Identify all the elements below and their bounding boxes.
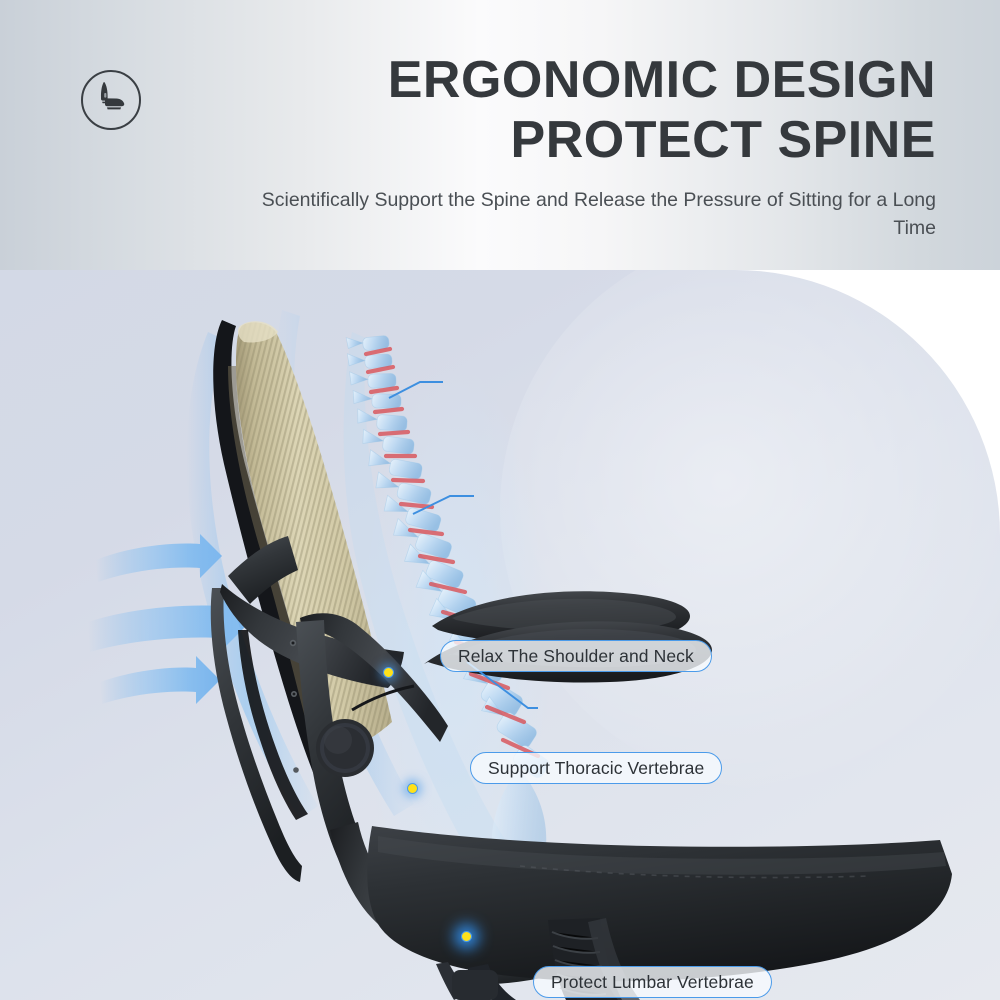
header-band: ERGONOMIC DESIGN PROTECT SPINE Scientifi… bbox=[0, 0, 1000, 270]
chair-illustration bbox=[0, 270, 1000, 1000]
title-line-1: ERGONOMIC DESIGN bbox=[216, 50, 936, 110]
callout-shoulder-neck[interactable]: Relax The Shoulder and Neck bbox=[440, 640, 712, 672]
diagram-panel: Relax The Shoulder and Neck Support Thor… bbox=[0, 270, 1000, 1000]
tilt-knob bbox=[316, 719, 374, 777]
callout-thoracic[interactable]: Support Thoracic Vertebrae bbox=[470, 752, 722, 784]
page-title: ERGONOMIC DESIGN PROTECT SPINE Scientifi… bbox=[216, 50, 936, 242]
infographic-canvas: ERGONOMIC DESIGN PROTECT SPINE Scientifi… bbox=[0, 0, 1000, 1000]
callout-lumbar[interactable]: Protect Lumbar Vertebrae bbox=[533, 966, 772, 998]
marker-thoracic[interactable] bbox=[407, 783, 418, 794]
seat-cushion bbox=[367, 826, 952, 981]
brand-logo bbox=[81, 70, 141, 130]
title-line-2: PROTECT SPINE bbox=[216, 110, 936, 170]
subtitle: Scientifically Support the Spine and Rel… bbox=[216, 186, 936, 242]
marker-lumbar[interactable] bbox=[461, 931, 472, 942]
marker-shoulder-neck[interactable] bbox=[383, 667, 394, 678]
